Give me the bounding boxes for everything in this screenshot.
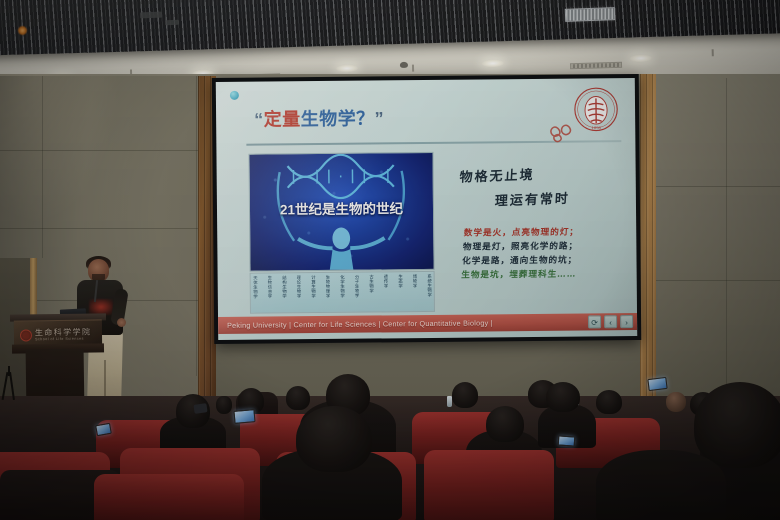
title-text-blue: 生物学？ [301, 108, 375, 129]
banner-affiliations-text: Peking University | Center for Life Scie… [218, 318, 493, 330]
sprinkler-head-icon [412, 65, 414, 72]
wall-seam [196, 76, 197, 376]
discipline-column: 化学生物学 [340, 274, 345, 310]
red-seal-stamp-icon [547, 122, 583, 142]
slide-footer-banner: Peking University | Center for Life Scie… [218, 313, 637, 334]
discipline-column: 天体生物学 [253, 275, 258, 311]
phone-screen [233, 409, 255, 424]
title-close-quote: ” [375, 108, 385, 128]
wall-seam [0, 228, 206, 229]
title-open-quote: “ [254, 110, 264, 130]
podium-org-name-en: School of Life Sciences [35, 337, 84, 342]
audience-head [286, 386, 310, 410]
audience-head [296, 406, 372, 472]
camera-tripod [2, 372, 18, 402]
audience-head [486, 406, 524, 442]
ceiling-sensor-icon [400, 62, 408, 68]
discipline-column: 分子生物学 [354, 274, 359, 310]
pku-seal-icon [20, 329, 32, 341]
discipline-column: 计算生物学 [311, 275, 316, 311]
ceiling-downlight [482, 59, 504, 68]
audience-head [596, 390, 622, 414]
audience-head [694, 382, 780, 468]
speaker-hand [117, 318, 126, 327]
calligraphy-verse: 生物是坑，埋葬理科生…… [461, 268, 577, 283]
water-bottle [447, 396, 452, 407]
ceiling-downlight [336, 64, 358, 73]
discipline-column: 生态学 [398, 274, 403, 310]
projection-screen: “定量生物学？” 1898 [216, 78, 637, 340]
seat [94, 474, 244, 520]
calligraphy-verse: 物理是灯，照亮化学的路； [462, 240, 578, 255]
phone-screen [647, 377, 667, 391]
audience-shoulders [596, 450, 726, 520]
calligraphy-verse-block: 数学是火，点亮物理的灯； 物理是灯，照亮化学的路； 化学是路，通向生物的坑； 生… [461, 227, 579, 284]
wood-slat-column-right [640, 74, 656, 396]
calligraphy-verse: 数学是火，点亮物理的灯； [463, 227, 579, 242]
discipline-column: 系统生物学 [427, 273, 432, 309]
phone-screen [558, 435, 576, 446]
calligraphy-verse: 化学是路，通向生物的坑； [462, 254, 578, 269]
discipline-column: 博物学 [412, 274, 417, 310]
dna-helix-human-figure-image: 21世纪是生物的世纪 [248, 152, 434, 272]
wall-seam [42, 76, 43, 258]
loop-refresh-icon[interactable]: ⟳ [588, 315, 601, 328]
wall-seam [0, 150, 206, 151]
ceiling-downlight [630, 54, 652, 63]
discipline-column: 生物信息学 [267, 275, 272, 311]
ceiling-plate [140, 12, 162, 19]
calligraphy-line-1: 物格无止境 [459, 164, 535, 186]
title-text-red: 定量 [264, 109, 301, 129]
teal-dot-icon [230, 91, 239, 100]
previous-slide-icon[interactable]: ‹ [604, 315, 617, 328]
wall-seam [648, 280, 780, 281]
discipline-column: 遗传学 [383, 274, 388, 310]
discipline-column: 结构生物学 [282, 275, 287, 311]
ceiling-plate [165, 20, 179, 25]
discipline-columns-strip: 天体生物学 生物信息学 结构生物学 理论生物学 计算生物学 生物物理学 化学生物… [250, 271, 435, 314]
seat [424, 450, 554, 520]
discipline-column: 古生物学 [369, 274, 374, 310]
slide-title: “定量生物学？” [254, 104, 384, 131]
podium-org-name-cn: 生命科学学院 [35, 327, 92, 339]
discipline-column: 生物物理学 [325, 274, 330, 310]
wall-seam [726, 78, 727, 398]
dna-image-caption: 21世纪是生物的世纪 [250, 197, 433, 219]
next-slide-icon[interactable]: › [620, 315, 633, 328]
wall-seam [648, 186, 780, 187]
ceiling-air-grille [565, 7, 615, 22]
wall-light-pool [0, 74, 120, 224]
ceiling-warm-spotlight [18, 26, 27, 35]
discipline-column: 理论生物学 [296, 275, 301, 311]
audience-hand [216, 396, 232, 414]
lecture-hall-photo: “定量生物学？” 1898 [0, 0, 780, 520]
ceiling-vent [570, 62, 622, 69]
slide-navigation-controls[interactable]: ⟳ ‹ › [588, 313, 633, 330]
audience-hand [666, 392, 686, 412]
calligraphy-line-2: 理运有常时 [494, 188, 570, 210]
svg-text:1898: 1898 [592, 126, 602, 130]
audience-head [546, 382, 580, 412]
sprinkler-head-icon [712, 49, 714, 56]
phone-screen [193, 403, 207, 414]
audience-head [452, 382, 478, 408]
projection-screen-frame: “定量生物学？” 1898 [212, 74, 642, 344]
